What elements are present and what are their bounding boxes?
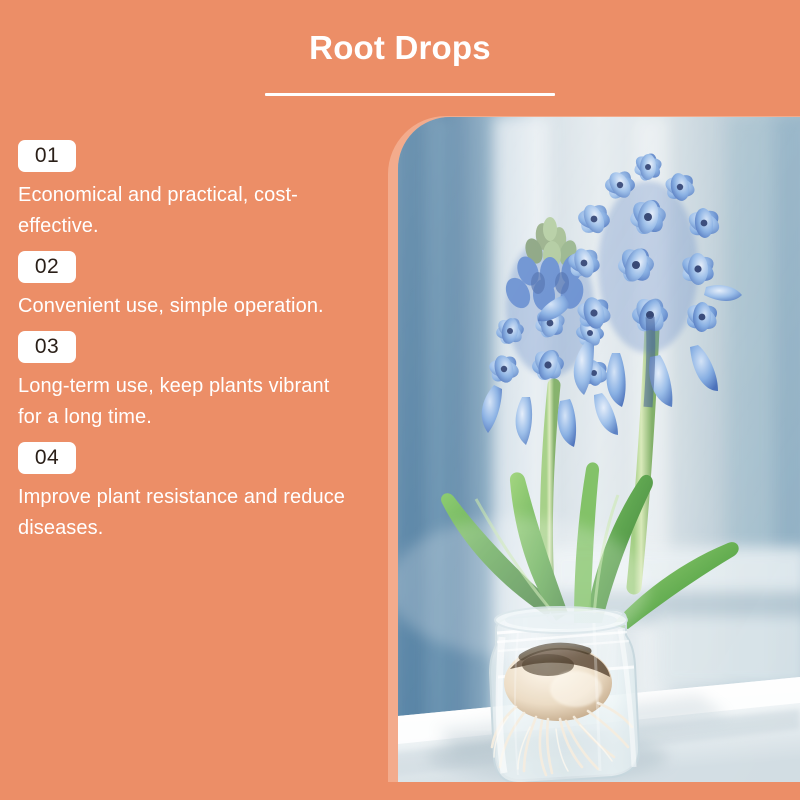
page-title: Root Drops	[0, 26, 800, 70]
poster-header: Root Drops	[0, 0, 800, 116]
product-feature-poster: Root Drops 01 Economical and practical, …	[0, 0, 800, 800]
feature-number-badge: 02	[18, 251, 76, 283]
feature-description: Improve plant resistance and reduce dise…	[18, 482, 358, 544]
list-item: 02 Convenient use, simple operation.	[18, 251, 368, 322]
list-item: 01 Economical and practical, cost-effect…	[18, 140, 368, 242]
feature-description: Economical and practical, cost-effective…	[18, 180, 358, 242]
product-photo	[398, 117, 800, 782]
hyacinth-photo-illustration	[398, 117, 800, 782]
feature-number-badge: 03	[18, 331, 76, 363]
feature-description: Convenient use, simple operation.	[18, 291, 358, 322]
feature-description: Long-term use, keep plants vibrant for a…	[18, 371, 358, 433]
title-underline-divider	[265, 93, 555, 96]
feature-list: 01 Economical and practical, cost-effect…	[18, 140, 368, 553]
feature-number-badge: 04	[18, 442, 76, 474]
list-item: 03 Long-term use, keep plants vibrant fo…	[18, 331, 368, 433]
feature-number-badge: 01	[18, 140, 76, 172]
list-item: 04 Improve plant resistance and reduce d…	[18, 442, 368, 544]
